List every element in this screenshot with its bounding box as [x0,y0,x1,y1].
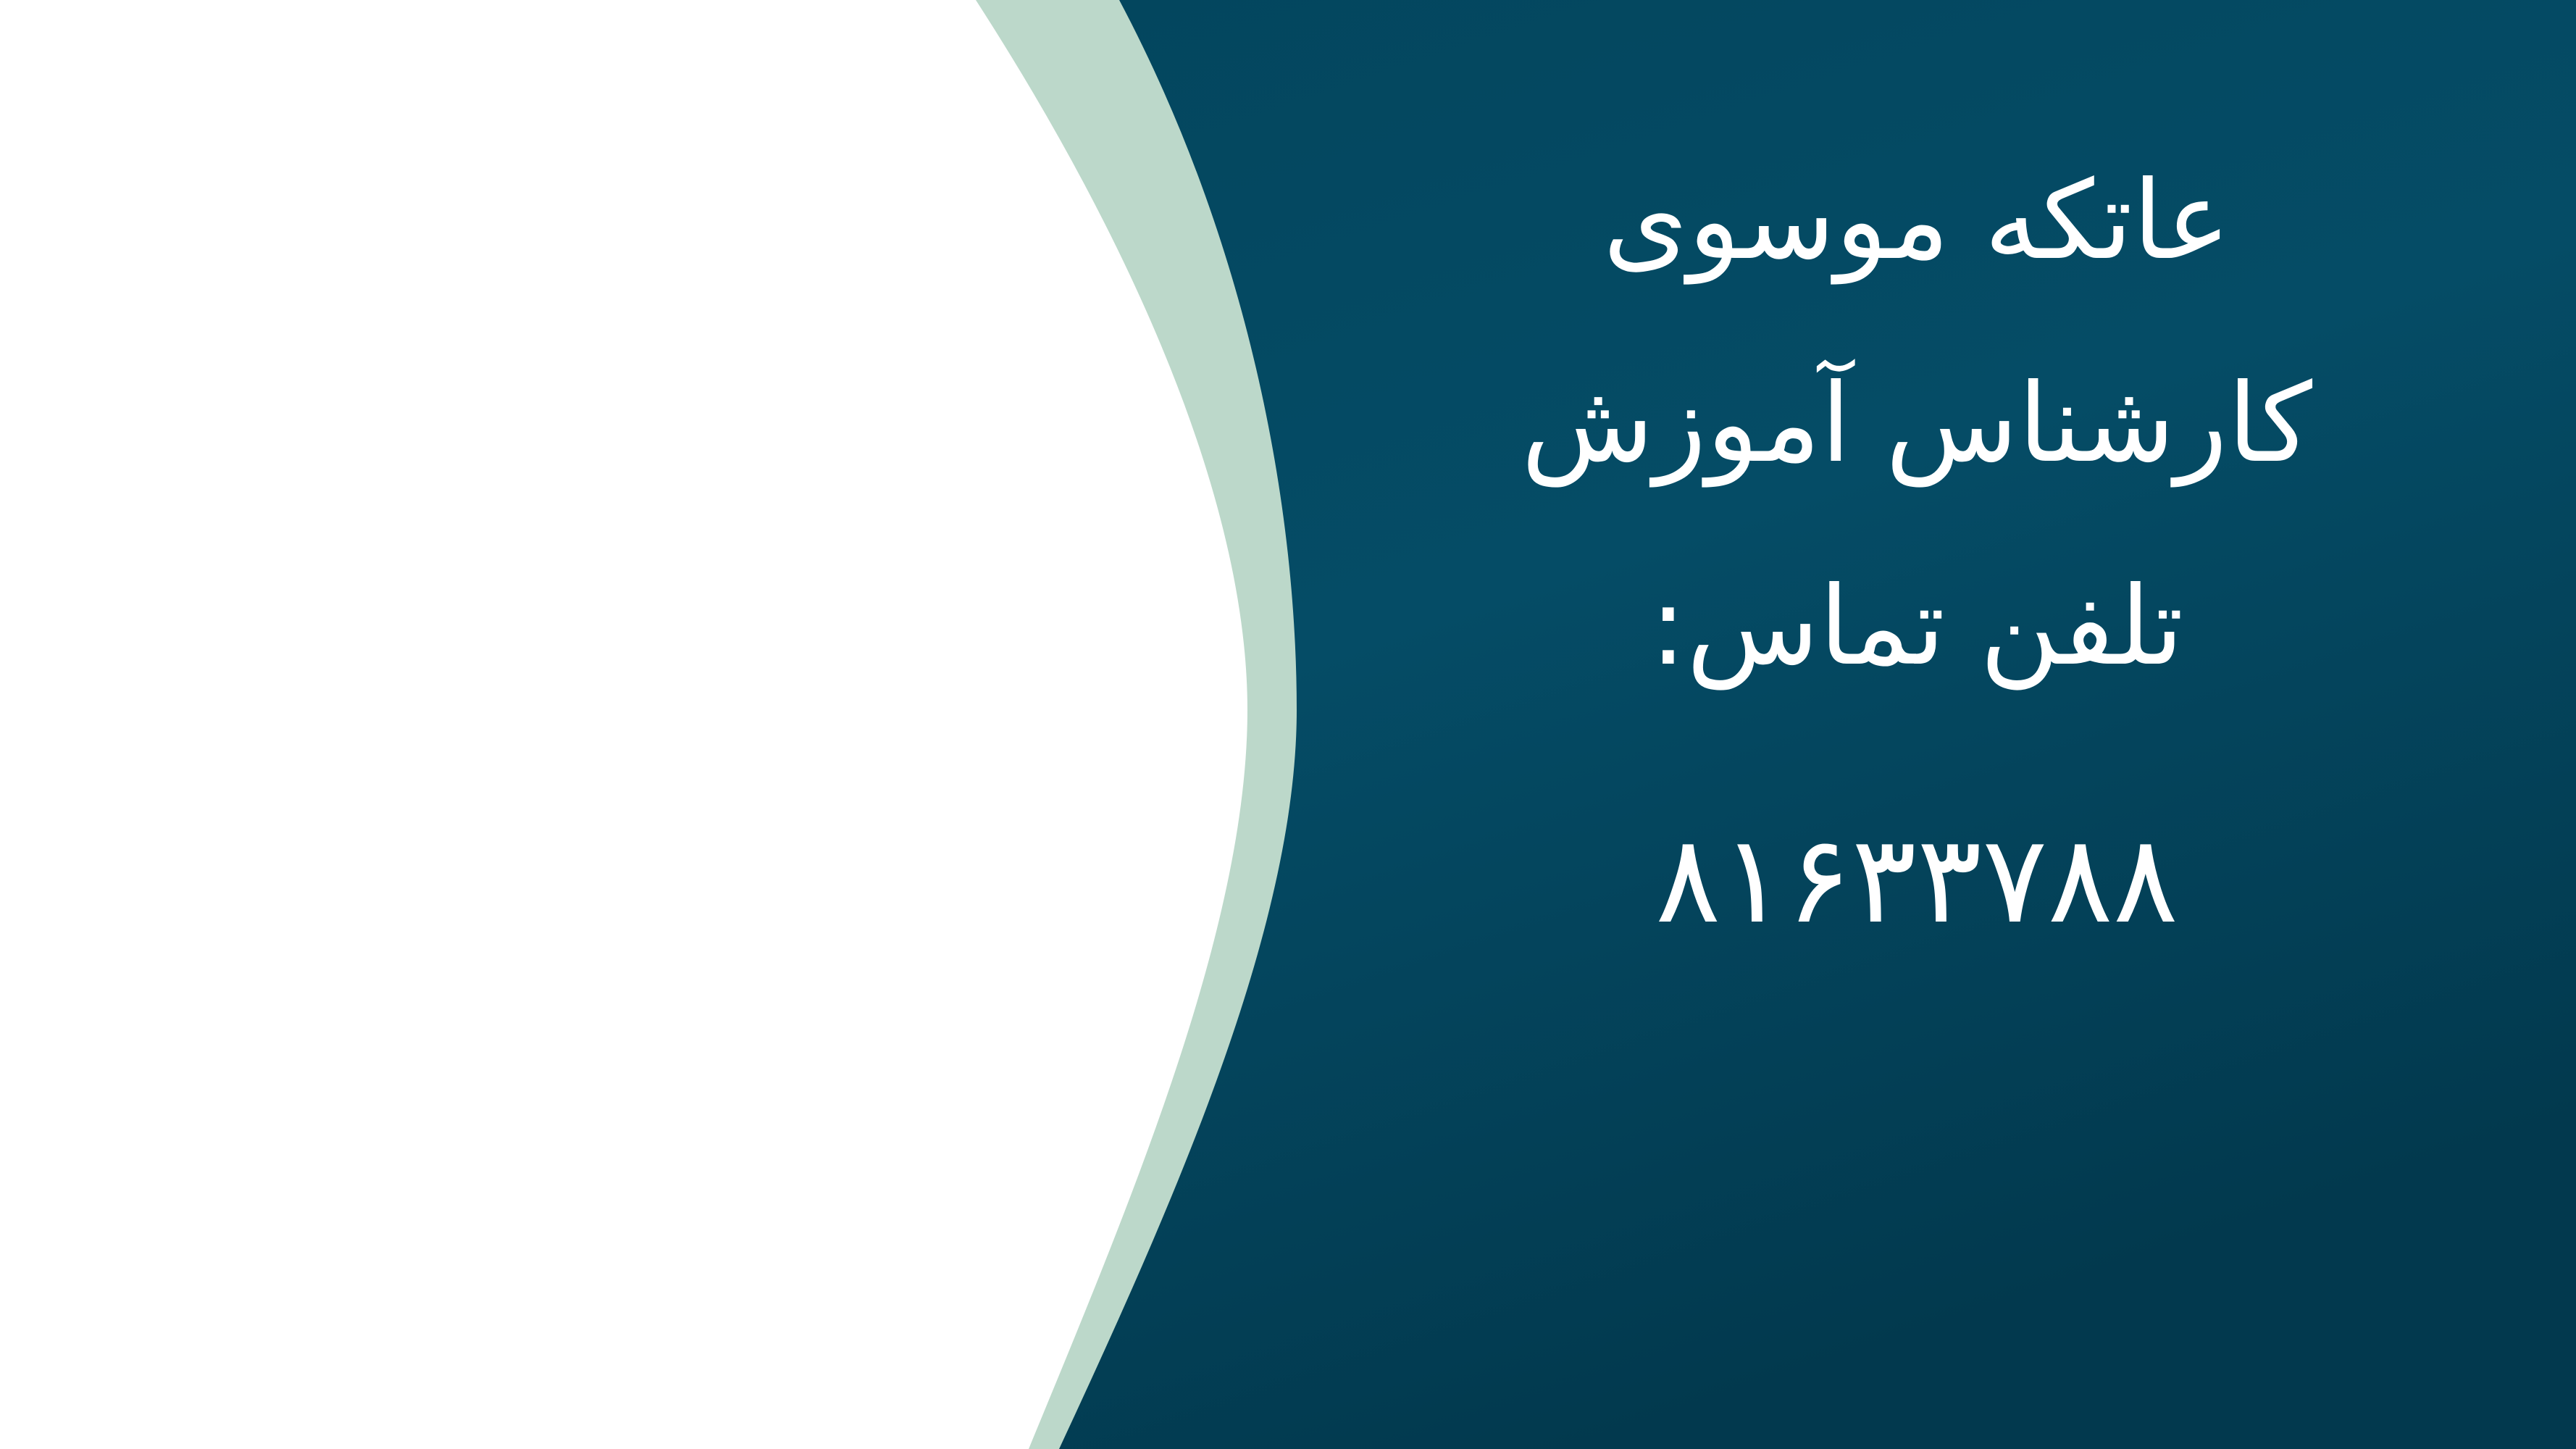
phone-number: ۸۱۶۳۳۷۸۸ [1655,819,2178,940]
phone-label: تلفن تماس: [1650,572,2184,681]
contact-text-block: عاتکه موسوی کارشناس آموزش تلفن تماس: ۸۱۶… [1279,0,2576,1449]
contact-slide: عاتکه موسوی کارشناس آموزش تلفن تماس: ۸۱۶… [0,0,2576,1449]
job-title: کارشناس آموزش [1521,369,2312,478]
person-name: عاتکه موسوی [1603,167,2230,275]
